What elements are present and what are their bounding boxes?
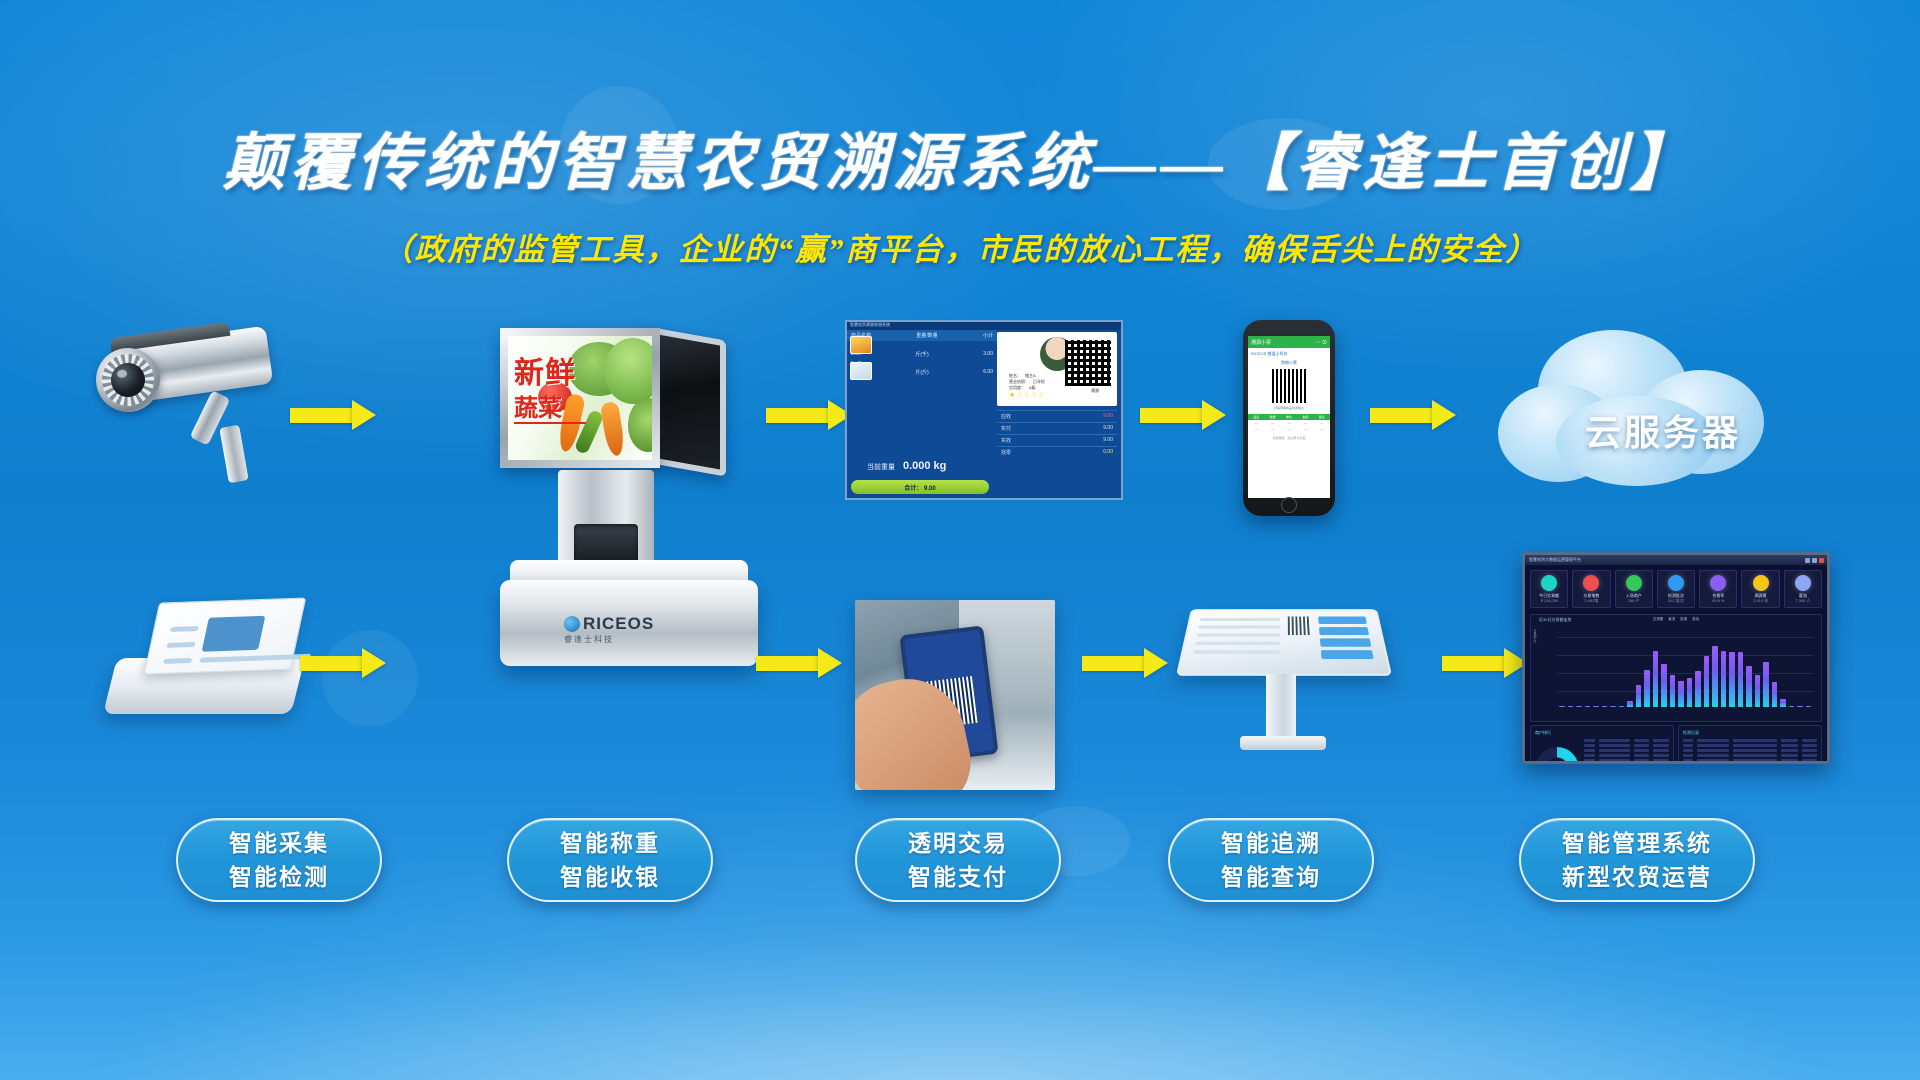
miniprogram-titlebar: 溯源小票 ⋯ ⊙: [1248, 336, 1330, 348]
item-amount: 6.00: [983, 369, 993, 376]
chart-bar: [1763, 662, 1769, 708]
qr-caption: 溯源: [1091, 388, 1099, 394]
badge-line-1: 智能追溯: [1221, 826, 1321, 861]
kpi-bulb-icon: [1795, 575, 1811, 591]
badge-line-2: 智能检测: [229, 860, 329, 895]
kpi-card[interactable]: 合格率99.6 %: [1699, 570, 1737, 608]
phone-table-row: —————: [1248, 426, 1330, 432]
phone-qr-caption: 扫码查看商品溯源信息: [1248, 406, 1330, 410]
kiosk-base: [1240, 736, 1326, 750]
chart-bar: [1729, 652, 1735, 707]
dashboard-window-title: 智慧农贸大数据运营管理平台: [1525, 557, 1581, 563]
page-title: 颠覆传统的智慧农贸溯源系统——【睿逢士首创】: [0, 112, 1920, 202]
pos-brand-logo: RICEOS 睿逢士科技: [564, 614, 654, 645]
kpi-card[interactable]: 今日交易额￥128,760: [1530, 570, 1568, 608]
cloud-label: 云服务器: [1498, 404, 1828, 456]
more-menu-icon[interactable]: ⋯ ⊙: [1314, 339, 1327, 346]
chart-bar: [1585, 706, 1591, 707]
item-thumbnail: [850, 362, 872, 380]
pos-ad-sub: 蔬菜: [514, 388, 562, 423]
security-camera: [96, 330, 306, 500]
chart-bar: [1738, 652, 1744, 707]
badge-line-2: 智能收银: [560, 860, 660, 895]
maximize-icon[interactable]: [1812, 558, 1817, 563]
report-line: [166, 642, 195, 648]
kpi-bulb-icon: [1753, 575, 1769, 591]
badge-line-2: 新型农贸运营: [1562, 860, 1712, 895]
badge-transaction[interactable]: 透明交易 智能支付: [855, 818, 1061, 902]
badge-line-2: 智能支付: [908, 860, 1008, 895]
total-label: 找零: [1001, 449, 1011, 456]
badge-weighing[interactable]: 智能称重 智能收银: [507, 818, 713, 902]
arrow-kiosk-to-dashboard: [1442, 648, 1528, 678]
cashier-window: 智慧农贸溯源收银系统 商品名称 重量/数量 小计 1. 芹菜 3.00 斤(千)…: [845, 320, 1123, 500]
chart-bar: [1653, 651, 1659, 707]
kiosk-panel: [1320, 638, 1371, 646]
table-title: 检测记录: [1683, 730, 1817, 736]
chart-bar: [1789, 706, 1795, 707]
chart-bar: [1755, 675, 1761, 708]
badge-line-1: 智能管理系统: [1562, 826, 1712, 861]
arrow-scale-to-payment: [756, 648, 842, 678]
kiosk-touchscreen[interactable]: [1176, 609, 1392, 676]
vendor-info-card: 溯源 姓名：摊主A 营业执照：已年检 信用度：A级 ★☆☆☆☆: [997, 332, 1117, 406]
page-subtitle: （政府的监管工具，企业的“赢”商平台，市民的放心工程，确保舌尖上的安全）: [0, 224, 1920, 269]
badge-line-2: 智能查询: [1221, 860, 1321, 895]
badge-line-1: 智能采集: [229, 826, 329, 861]
close-icon[interactable]: [1819, 558, 1824, 563]
badge-line-1: 智能称重: [560, 826, 660, 861]
dashboard-tables: 商户排行: [1525, 725, 1827, 764]
chart-bar: [1576, 706, 1582, 707]
pos-ad-image: 新鲜 蔬菜: [508, 336, 652, 460]
chart-legend: 交易额客流 检测投诉: [1653, 617, 1700, 622]
chart-bar: [1797, 706, 1803, 707]
total-label: 应收: [1001, 413, 1011, 420]
brand-dot-icon: [564, 616, 580, 632]
kiosk-qr-code-icon[interactable]: [1288, 616, 1312, 635]
phone-section-title: 购物小票: [1248, 360, 1330, 366]
chart-bar: [1602, 706, 1608, 707]
veg-carrot: [600, 401, 626, 457]
arrow-phone-to-cloud: [1370, 400, 1456, 430]
report-line: [163, 658, 192, 664]
home-button-icon[interactable]: [1281, 497, 1297, 513]
smartphone-icon: 溯源小票 ⋯ ⊙ RICEOS 睿逢士科技 购物小票 扫码查看商品溯源信息 品名…: [1243, 320, 1335, 516]
chart-bar: [1704, 656, 1710, 707]
kiosk-pedestal: [1266, 674, 1296, 740]
cashier-trace-screen: 智慧农贸溯源收银系统 商品名称 重量/数量 小计 1. 芹菜 3.00 斤(千)…: [845, 320, 1123, 500]
chart-bar: [1670, 675, 1676, 708]
self-service-kiosk: [1184, 600, 1394, 760]
bg-bubble: [322, 630, 418, 726]
kiosk-panel: [1319, 627, 1369, 635]
arrow-printer-to-scale: [300, 648, 386, 678]
title-block: 颠覆传统的智慧农贸溯源系统——【睿逢士首创】 （政府的监管工具，企业的“赢”商平…: [0, 112, 1920, 269]
chart-bar: [1593, 706, 1599, 707]
table-title: 商户排行: [1535, 730, 1669, 736]
chart-bar: [1619, 706, 1625, 707]
phone-screen: 溯源小票 ⋯ ⊙ RICEOS 睿逢士科技 购物小票 扫码查看商品溯源信息 品名…: [1248, 336, 1330, 498]
pos-main-screen: 新鲜 蔬菜: [500, 328, 660, 468]
chart-bar: [1780, 699, 1786, 708]
kiosk-panel: [1321, 650, 1374, 659]
pos-brand-sub: 睿逢士科技: [564, 634, 654, 645]
kpi-card[interactable]: 溯源票2,914 张: [1741, 570, 1779, 608]
pos-brand-name: RICEOS: [583, 614, 654, 633]
chart-bar: [1636, 685, 1642, 707]
pos-scale: 新鲜 蔬菜 RICEOS 睿逢士科技: [500, 328, 770, 678]
kpi-bulb-icon: [1541, 575, 1557, 591]
chart-bar: [1772, 682, 1778, 707]
phone-footer: 感谢惠顾 · 欢迎再次光临: [1248, 436, 1330, 440]
kpi-card[interactable]: 入场商户286 户: [1615, 570, 1653, 608]
veg-greens: [628, 398, 660, 452]
badge-management[interactable]: 智能管理系统 新型农贸运营: [1519, 818, 1755, 902]
arrow-pos-to-cashier: [766, 400, 852, 430]
chart-bar: [1712, 646, 1718, 707]
item-amount: 3.00: [983, 351, 993, 358]
chart-bars: [1559, 631, 1811, 707]
total-value: 9.00: [1103, 413, 1113, 420]
camera-wall-mount: [219, 425, 248, 484]
bg-wave: [0, 980, 1920, 1080]
kiosk-panel: [1318, 616, 1367, 624]
total-value: 9.00: [1103, 425, 1113, 432]
chart-bar: [1661, 664, 1667, 707]
trace-qr-code-icon[interactable]: [1065, 340, 1111, 386]
chart-bar: [1627, 701, 1633, 708]
cashier-titlebar: 智慧农贸溯源收银系统: [847, 322, 1121, 330]
chart-bar: [1695, 671, 1701, 707]
kpi-bulb-icon: [1668, 575, 1684, 591]
report-logo: [202, 616, 266, 652]
kpi-bulb-icon: [1626, 575, 1642, 591]
pos-ad-headline: 新鲜: [514, 348, 576, 392]
miniprogram-title: 溯源小票: [1251, 339, 1271, 346]
management-dashboard: 智慧农贸大数据运营管理平台 今日交易额￥128,760 交易笔数3,482笔 入…: [1522, 552, 1830, 764]
chart-bar: [1644, 670, 1650, 707]
dashboard-titlebar: 智慧农贸大数据运营管理平台: [1525, 555, 1827, 565]
transaction-bar-chart: 近30日交易额走势 交易额客流 检测投诉 交易额(元): [1530, 614, 1822, 722]
weight-readout: 当前重量 0.000 kg: [867, 460, 946, 472]
kpi-card[interactable]: 交易笔数3,482笔: [1572, 570, 1610, 608]
item-unit: 斤(斤): [915, 369, 928, 376]
inspection-record-table[interactable]: 检测记录: [1678, 725, 1822, 764]
kpi-card[interactable]: 客流7,340 人: [1784, 570, 1822, 608]
veg-lettuce: [604, 338, 660, 404]
item-unit: 斤(千): [915, 351, 928, 358]
badge-collection[interactable]: 智能采集 智能检测: [176, 818, 382, 902]
data-collector-printer: [110, 600, 310, 730]
cloud-server: 云服务器: [1498, 330, 1828, 510]
col-sub: 小计: [983, 332, 993, 339]
kpi-bulb-icon: [1583, 575, 1599, 591]
printed-report: [144, 597, 307, 674]
chart-ylabel: 交易额(元): [1533, 629, 1537, 643]
chart-bar: [1721, 651, 1727, 707]
total-label: 实付: [1001, 425, 1011, 432]
poster-canvas: 颠覆传统的智慧农贸溯源系统——【睿逢士首创】 （政府的监管工具，企业的“赢”商平…: [0, 0, 1920, 1080]
mobile-payment-photo: [855, 600, 1055, 790]
chart-bar: [1559, 706, 1565, 707]
total-label: 实收: [1001, 437, 1011, 444]
dashboard-window: 智慧农贸大数据运营管理平台 今日交易额￥128,760 交易笔数3,482笔 入…: [1522, 552, 1830, 764]
pos-customer-display: [652, 327, 726, 476]
chart-bar: [1687, 678, 1693, 707]
badge-trace[interactable]: 智能追溯 智能查询: [1168, 818, 1374, 902]
arrow-payment-to-kiosk: [1082, 648, 1168, 678]
badge-line-1: 透明交易: [908, 826, 1008, 861]
wechat-miniprogram-phone: 溯源小票 ⋯ ⊙ RICEOS 睿逢士科技 购物小票 扫码查看商品溯源信息 品名…: [1243, 320, 1335, 516]
kiosk-list-col: [1193, 618, 1280, 654]
col-qty: 重量/数量: [916, 332, 937, 339]
chart-bar: [1568, 706, 1574, 707]
phone-brand: RICEOS 睿逢士科技: [1248, 348, 1330, 360]
minimize-icon[interactable]: [1805, 558, 1810, 563]
item-thumbnail: [850, 336, 872, 354]
chart-bar: [1610, 706, 1616, 707]
pos-ad-rule: [514, 422, 586, 424]
total-value: 0.00: [1103, 449, 1113, 456]
merchant-ranking-table[interactable]: 商户排行: [1530, 725, 1674, 764]
arrow-cashier-to-phone: [1140, 400, 1226, 430]
kpi-bulb-icon: [1710, 575, 1726, 591]
total-amount-bar[interactable]: 合计： 9.00: [851, 480, 989, 494]
total-value: 9.00: [1103, 437, 1113, 444]
chart-bar: [1746, 666, 1752, 707]
arrow-camera-to-pos: [290, 400, 376, 430]
kpi-card[interactable]: 检测批次512 批次: [1657, 570, 1695, 608]
chart-bar: [1678, 681, 1684, 707]
payment-photo: [855, 600, 1055, 790]
kpi-card-row: 今日交易额￥128,760 交易笔数3,482笔 入场商户286 户 检测批次5…: [1525, 565, 1827, 611]
bg-wave: [0, 900, 1920, 1080]
chart-bar: [1806, 706, 1812, 707]
phone-qr-code-icon[interactable]: [1272, 369, 1306, 403]
totals-panel: 应收9.00 实付9.00 实收9.00 找零0.00: [997, 410, 1117, 458]
report-line: [170, 626, 199, 632]
pass-rate-donut-chart: [1535, 747, 1579, 764]
chart-title: 近30日交易额走势: [1539, 617, 1571, 623]
